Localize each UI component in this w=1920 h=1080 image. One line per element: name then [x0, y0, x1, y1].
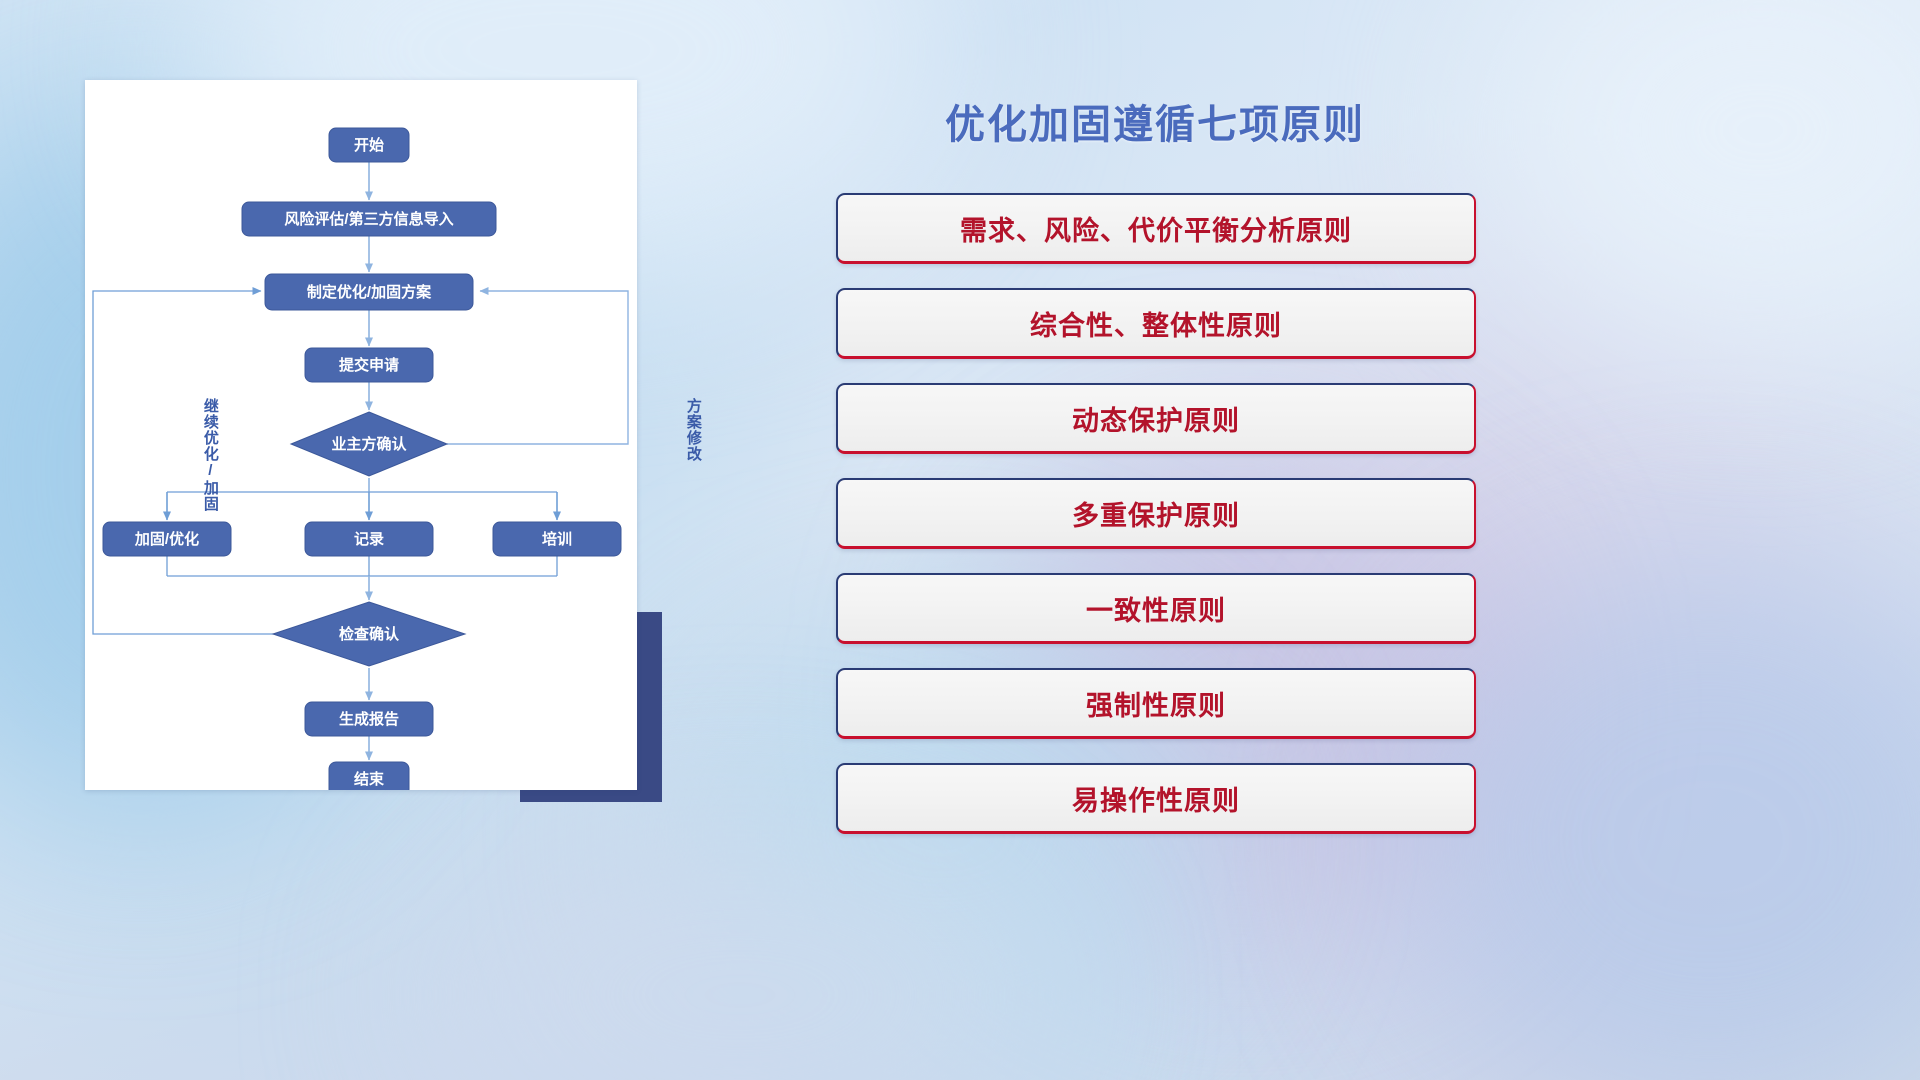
flowchart-diagram: 开始 风险评估/第三方信息导入 制定优化/加固方案 提交申请 业主方确认 加固/… [85, 80, 637, 790]
background-blob [1400, 560, 1920, 1080]
background-blob [430, 830, 1050, 1080]
principle-label: 强制性原则 [1086, 684, 1226, 723]
flow-node-training: 培训 [542, 530, 572, 548]
background-blob [1500, 0, 1920, 340]
flow-node-plan: 制定优化/加固方案 [307, 283, 432, 301]
page-title: 优化加固遵循七项原则 [830, 92, 1480, 150]
flow-node-reinforce: 加固/优化 [134, 530, 199, 548]
principle-label: 动态保护原则 [1072, 399, 1240, 438]
principle-label: 一致性原则 [1086, 589, 1226, 628]
flow-loop-label-plan-revision: 方案修改 [685, 398, 701, 462]
principle-card[interactable]: 需求、风险、代价平衡分析原则 [836, 193, 1476, 264]
flow-node-inspection: 检查确认 [339, 625, 400, 643]
flow-node-submit: 提交申请 [339, 356, 399, 374]
principle-card[interactable]: 强制性原则 [836, 668, 1476, 739]
flow-node-end: 结束 [354, 770, 385, 788]
flow-node-report: 生成报告 [339, 710, 399, 728]
principle-label: 多重保护原则 [1072, 494, 1240, 533]
principle-card[interactable]: 多重保护原则 [836, 478, 1476, 549]
flow-loop-label-continue-optimize: 继续优化/加固 [202, 398, 218, 512]
flow-node-risk: 风险评估/第三方信息导入 [284, 210, 453, 228]
principle-card[interactable]: 动态保护原则 [836, 383, 1476, 454]
presentation-slide: 开始 风险评估/第三方信息导入 制定优化/加固方案 提交申请 业主方确认 加固/… [0, 0, 1920, 1080]
principle-label: 易操作性原则 [1072, 779, 1240, 818]
principle-label: 综合性、整体性原则 [1030, 304, 1282, 343]
flow-node-start: 开始 [354, 136, 384, 154]
flowchart-card: 开始 风险评估/第三方信息导入 制定优化/加固方案 提交申请 业主方确认 加固/… [85, 80, 637, 790]
principle-card[interactable]: 易操作性原则 [836, 763, 1476, 834]
flow-node-owner-confirm: 业主方确认 [331, 435, 407, 453]
principle-label: 需求、风险、代价平衡分析原则 [960, 209, 1352, 248]
principles-list: 需求、风险、代价平衡分析原则 综合性、整体性原则 动态保护原则 多重保护原则 一… [836, 193, 1476, 858]
principle-card[interactable]: 综合性、整体性原则 [836, 288, 1476, 359]
flow-node-record: 记录 [354, 531, 384, 548]
principle-card[interactable]: 一致性原则 [836, 573, 1476, 644]
